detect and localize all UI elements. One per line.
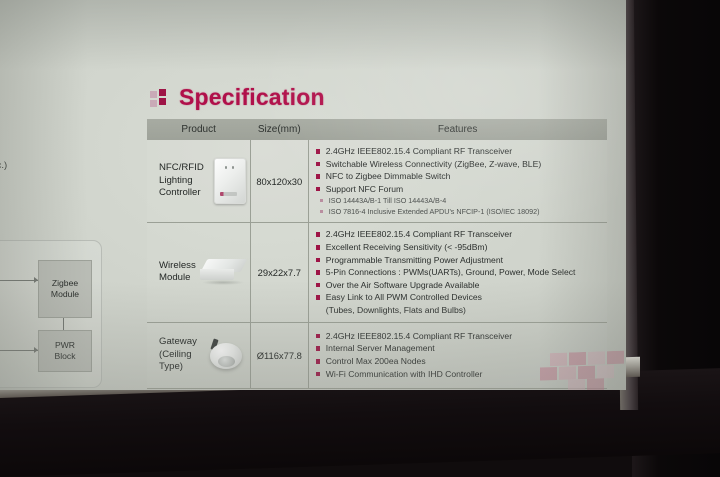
product-size: 80x120x30 xyxy=(255,176,304,187)
cell-features: 2.4GHz IEEE802.15.4 Compliant RF Transce… xyxy=(308,223,607,322)
clipped-text-fragment: tc.) xyxy=(0,160,7,171)
column-header-features: Features xyxy=(308,119,607,140)
column-header-size: Size(mm) xyxy=(250,119,308,140)
table-row: Gateway (Ceiling Type) Ø116x77.8 2.4GHz … xyxy=(147,322,607,388)
feature-item: 5-Pin Connections : PWMs(UARTs), Ground,… xyxy=(315,266,603,279)
product-name: Wireless Module xyxy=(151,260,196,285)
feature-item: NFC to Zigbee Dimmable Switch xyxy=(315,170,603,183)
cell-features: 2.4GHz IEEE802.15.4 Compliant RF Transce… xyxy=(308,140,607,223)
cell-size: 80x120x30 xyxy=(250,140,308,223)
left-partial-diagram: Connector for Wireless Module Zigbee Mod… xyxy=(0,222,108,387)
four-squares-icon xyxy=(150,89,170,107)
feature-item: Excellent Receiving Sensitivity (< -95dB… xyxy=(315,241,603,254)
product-size: Ø116x77.8 xyxy=(255,350,304,361)
decorative-checker-pattern xyxy=(540,350,626,390)
diagram-connector-line-top xyxy=(0,280,38,281)
cell-size: Ø116x77.8 xyxy=(250,322,308,388)
cell-product: Wireless Module xyxy=(147,223,250,322)
diagram-connector-line-vertical xyxy=(63,316,64,330)
wireless-module-photo xyxy=(200,259,246,285)
table-header: Product Size(mm) Features xyxy=(147,119,607,140)
feature-item: 2.4GHz IEEE802.15.4 Compliant RF Transce… xyxy=(315,228,603,241)
feature-item: Switchable Wireless Connectivity (ZigBee… xyxy=(315,158,603,171)
feature-item: 2.4GHz IEEE802.15.4 Compliant RF Transce… xyxy=(315,145,603,158)
feature-subitem: ISO 14443A/B-1 Till ISO 14443A/B-4 xyxy=(315,195,603,206)
ceiling-gateway-photo xyxy=(206,337,246,373)
feature-item: Easy Link to All PWM Controlled Devices xyxy=(315,291,603,304)
diagram-zigbee-module-box: Zigbee Module xyxy=(38,260,92,318)
diagram-connector-line-bottom xyxy=(0,350,38,351)
feature-subitem: ISO 7816-4 Inclusive Extended APDU's NFC… xyxy=(315,206,603,217)
feature-item-continuation: (Tubes, Downlights, Flats and Bulbs) xyxy=(315,304,603,317)
feature-item: Programmable Transmitting Power Adjustme… xyxy=(315,254,603,267)
specification-table: Product Size(mm) Features NFC/RFID Light… xyxy=(147,119,607,389)
table-header-row: Product Size(mm) Features xyxy=(147,119,607,140)
column-header-product: Product xyxy=(147,119,250,140)
table-body: NFC/RFID Lighting Controller 80x120x30 2… xyxy=(147,140,607,388)
slide-title-row: Specification xyxy=(150,84,325,111)
feature-item: Over the Air Software Upgrade Available xyxy=(315,279,603,292)
diagram-pwr-block-box: PWR Block xyxy=(38,330,92,372)
wall-switch-photo xyxy=(214,158,246,204)
feature-item: Support NFC Forum xyxy=(315,183,603,196)
cell-size: 29x22x7.7 xyxy=(250,223,308,322)
table-row: NFC/RFID Lighting Controller 80x120x30 2… xyxy=(147,140,607,223)
product-name: NFC/RFID Lighting Controller xyxy=(151,162,210,200)
cell-product: Gateway (Ceiling Type) xyxy=(147,322,250,388)
table-row: Wireless Module 29x22x7.7 2.4GHz IEEE802… xyxy=(147,223,607,322)
cell-product: NFC/RFID Lighting Controller xyxy=(147,140,250,223)
feature-item: 2.4GHz IEEE802.15.4 Compliant RF Transce… xyxy=(315,330,603,343)
page-title: Specification xyxy=(179,84,325,111)
projected-slide: Connector for Wireless Module Zigbee Mod… xyxy=(0,0,626,390)
product-size: 29x22x7.7 xyxy=(255,267,304,278)
product-name: Gateway (Ceiling Type) xyxy=(151,336,202,374)
feature-list: 2.4GHz IEEE802.15.4 Compliant RF Transce… xyxy=(313,228,603,316)
feature-list: 2.4GHz IEEE802.15.4 Compliant RF Transce… xyxy=(313,145,603,217)
